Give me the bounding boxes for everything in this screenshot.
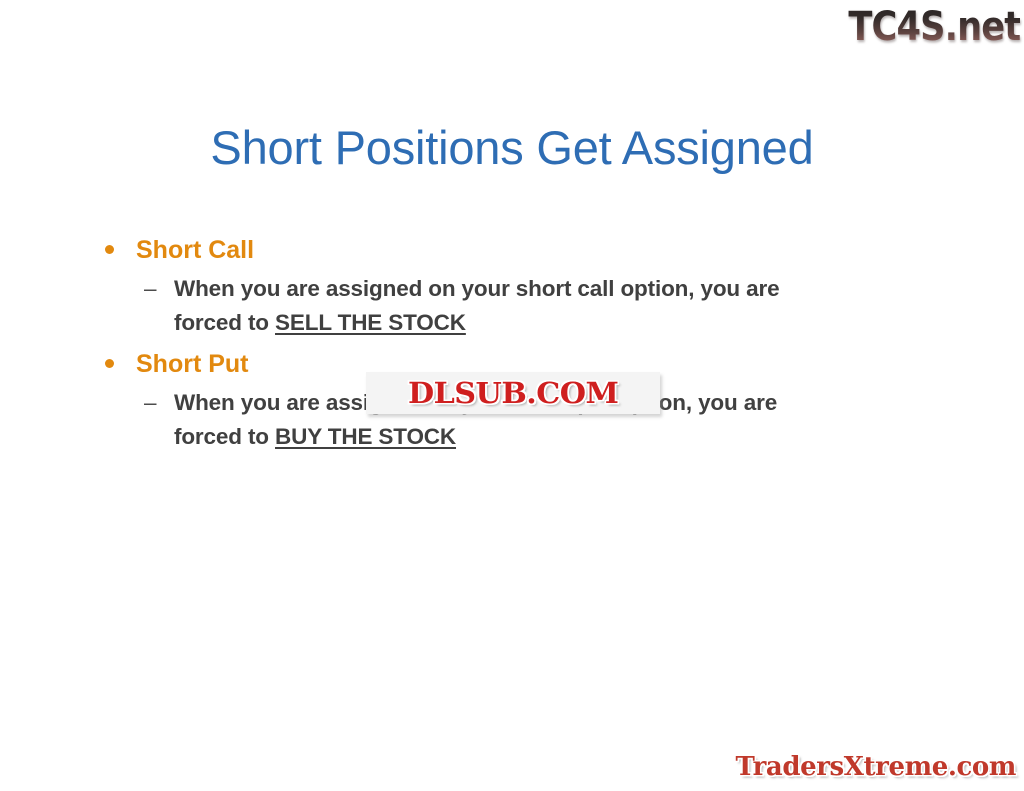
tradersxtreme-footer-logo: TradersXtreme.com	[706, 748, 1016, 786]
dlsub-watermark-text: DLSUB.COM	[408, 378, 618, 408]
dlsub-watermark: DLSUB.COM	[366, 372, 660, 414]
bullet-level2-short-call: – When you are assigned on your short ca…	[86, 272, 956, 340]
bullet-level1-label-short-call: Short Call	[136, 236, 254, 264]
bullet-level2-line2-prefix-short-call: forced to	[174, 310, 275, 335]
bullet-level2-line2-prefix-short-put: forced to	[174, 424, 275, 449]
dash-marker-icon: –	[144, 272, 156, 306]
bullet-group-short-call: Short Call – When you are assigned on yo…	[86, 228, 956, 340]
page-title: Short Positions Get Assigned	[62, 118, 962, 178]
bullet-dot-icon	[102, 228, 116, 272]
bullet-level2-line1-short-call: When you are assigned on your short call…	[174, 272, 956, 306]
tc4s-brand-logo-text: TC4S.net	[848, 5, 1020, 49]
bullet-dot-icon	[102, 342, 116, 386]
bullet-level1-short-call: Short Call	[86, 228, 956, 272]
bullet-level2-line2-short-put: forced to BUY THE STOCK	[174, 420, 956, 454]
bullet-level2-line2-short-call: forced to SELL THE STOCK	[174, 306, 956, 340]
dash-marker-icon: –	[144, 386, 156, 420]
tc4s-brand-logo: TC4S.net	[820, 2, 1020, 52]
slide-canvas: TC4S.net Short Positions Get Assigned Sh…	[0, 0, 1024, 791]
tradersxtreme-footer-logo-text: TradersXtreme.com	[736, 752, 1016, 782]
bullet-level2-line2-emphasis-short-put: BUY THE STOCK	[275, 424, 456, 449]
bullet-level1-label-short-put: Short Put	[136, 350, 249, 378]
slide-body: Short Call – When you are assigned on yo…	[86, 228, 956, 456]
bullet-level2-line2-emphasis-short-call: SELL THE STOCK	[275, 310, 466, 335]
